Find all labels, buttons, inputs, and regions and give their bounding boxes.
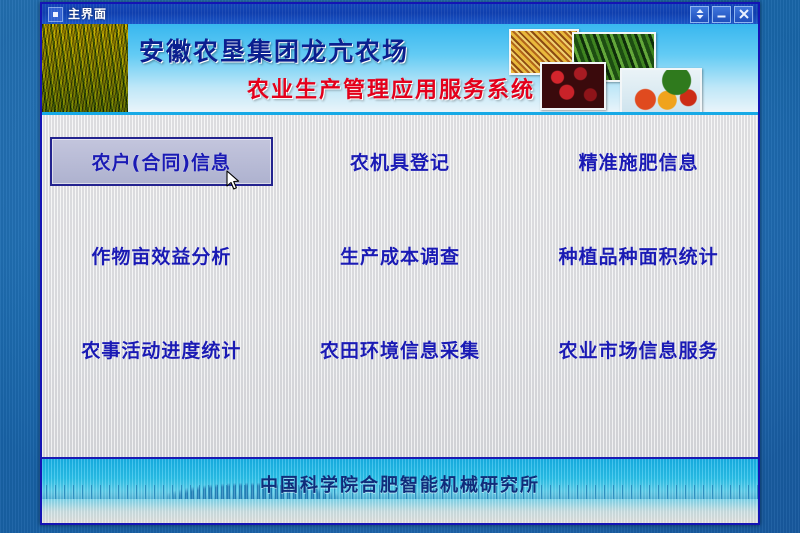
banner-farm-name: 安徽农垦集团龙亢农场 (139, 32, 409, 68)
menu-precision-fertilization-info[interactable]: 精准施肥信息 (569, 142, 709, 181)
menu-cell: 农户(合同)信息 (42, 139, 281, 183)
window-title-text: 主界面 (68, 7, 107, 21)
menu-cell: 作物亩效益分析 (42, 233, 281, 277)
menu-grid: 农户(合同)信息 农机具登记 精准施肥信息 作物亩效益分析 生产成本调查 种植品… (42, 139, 758, 371)
window-title-bar[interactable]: 主界面 (42, 4, 758, 24)
menu-agriculture-market-info-service[interactable]: 农业市场信息服务 (549, 330, 729, 369)
red-berries-photo (540, 62, 606, 110)
window-controls (690, 6, 756, 23)
application-banner: 安徽农垦集团龙亢农场 农业生产管理应用服务系统 (42, 24, 758, 115)
menu-production-cost-survey[interactable]: 生产成本调查 (330, 236, 470, 275)
main-content-area: 农户(合同)信息 农机具登记 精准施肥信息 作物亩效益分析 生产成本调查 种植品… (42, 115, 758, 457)
menu-crop-yield-benefit-analysis[interactable]: 作物亩效益分析 (81, 236, 241, 275)
menu-machinery-registration[interactable]: 农机具登记 (340, 142, 460, 181)
menu-cell: 生产成本调查 (281, 233, 520, 277)
banner-system-name: 农业生产管理应用服务系统 (247, 72, 535, 104)
vegetables-photo (620, 68, 702, 114)
crt-scanline-overlay (42, 4, 758, 24)
menu-cell: 精准施肥信息 (519, 139, 758, 183)
menu-cell: 农田环境信息采集 (281, 327, 520, 371)
close-button[interactable] (734, 6, 753, 23)
application-window: 主界面 安徽农垦集团龙亢农场 农业生产管理应用服务系统 农户(合同)信息 (40, 2, 760, 525)
footer-institute-name: 中国科学院合肥智能机械研究所 (42, 471, 758, 497)
spinner-button[interactable] (690, 6, 709, 23)
menu-cell: 种植品种面积统计 (519, 233, 758, 277)
window-system-icon[interactable] (48, 7, 63, 22)
menu-field-environment-collection[interactable]: 农田环境信息采集 (310, 330, 490, 369)
menu-farming-activity-progress[interactable]: 农事活动进度统计 (71, 330, 251, 369)
menu-variety-area-statistics[interactable]: 种植品种面积统计 (549, 236, 729, 275)
rice-field-photo (42, 24, 128, 112)
menu-farmer-contract-info[interactable]: 农户(合同)信息 (50, 137, 273, 186)
minimize-button[interactable] (712, 6, 731, 23)
menu-cell: 农事活动进度统计 (42, 327, 281, 371)
menu-cell: 农机具登记 (281, 139, 520, 183)
application-footer: 中国科学院合肥智能机械研究所 (42, 457, 758, 523)
menu-cell: 农业市场信息服务 (519, 327, 758, 371)
